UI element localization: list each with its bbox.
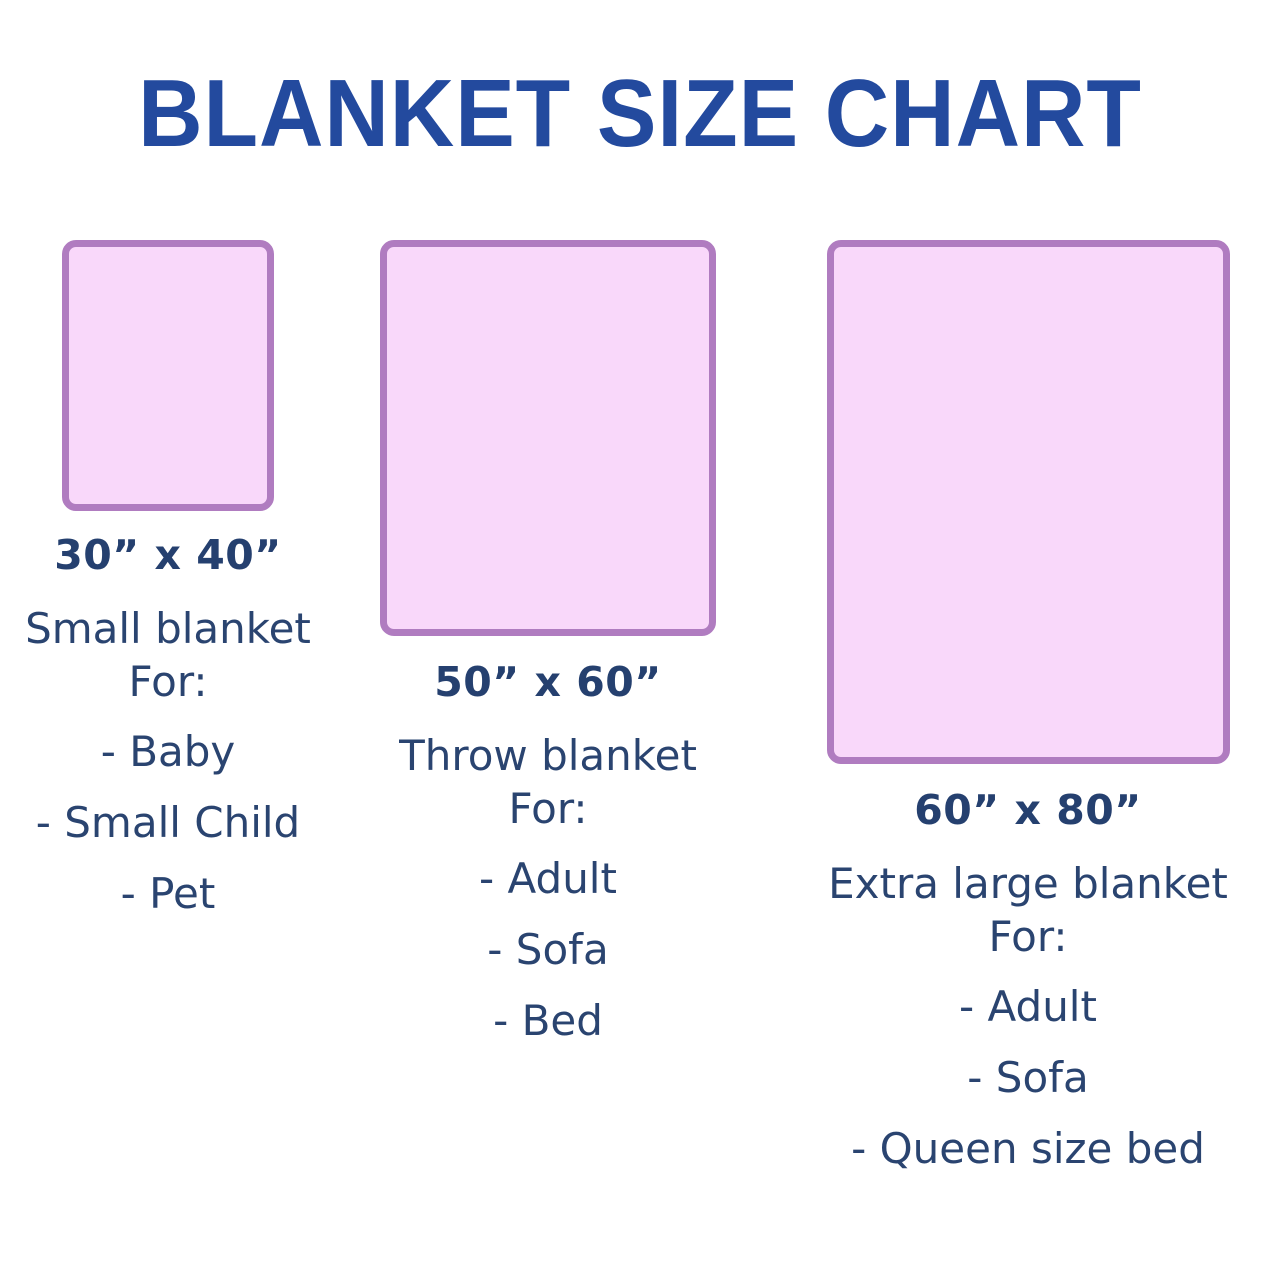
for-label-extra-large: For: <box>776 913 1280 962</box>
swatch-wrapper-throw <box>342 240 754 636</box>
size-column-extra-large: 60” x 80” Extra large blanket For: - Adu… <box>776 240 1280 1174</box>
blanket-size-chart: BLANKET SIZE CHART 30” x 40” Small blank… <box>0 0 1280 1280</box>
list-item: - Baby <box>0 728 336 777</box>
blanket-name-extra-large: Extra large blanket <box>776 860 1280 909</box>
list-item: - Small Child <box>0 799 336 848</box>
for-label-small: For: <box>0 658 336 707</box>
dimension-label-small: 30” x 40” <box>0 533 336 579</box>
swatch-wrapper-extra-large <box>776 240 1280 764</box>
size-column-small: 30” x 40” Small blanket For: - Baby - Sm… <box>0 240 336 919</box>
blanket-name-small: Small blanket <box>0 605 336 654</box>
blanket-swatch-extra-large <box>827 240 1230 764</box>
label-block-small: 30” x 40” Small blanket For: - Baby - Sm… <box>0 533 336 919</box>
use-list-throw: - Adult - Sofa - Bed <box>342 855 754 1045</box>
list-item: - Bed <box>342 997 754 1046</box>
dimension-label-throw: 50” x 60” <box>342 660 754 706</box>
for-label-throw: For: <box>342 785 754 834</box>
list-item: - Sofa <box>342 926 754 975</box>
page-title: BLANKET SIZE CHART <box>45 66 1235 162</box>
use-list-extra-large: - Adult - Sofa - Queen size bed <box>776 983 1280 1173</box>
label-block-throw: 50” x 60” Throw blanket For: - Adult - S… <box>342 660 754 1046</box>
dimension-label-extra-large: 60” x 80” <box>776 788 1280 834</box>
blanket-swatch-throw <box>380 240 716 636</box>
list-item: - Adult <box>776 983 1280 1032</box>
blanket-name-throw: Throw blanket <box>342 732 754 781</box>
size-column-throw: 50” x 60” Throw blanket For: - Adult - S… <box>342 240 754 1046</box>
list-item: - Adult <box>342 855 754 904</box>
label-block-extra-large: 60” x 80” Extra large blanket For: - Adu… <box>776 788 1280 1174</box>
blanket-swatch-small <box>62 240 274 511</box>
list-item: - Sofa <box>776 1054 1280 1103</box>
use-list-small: - Baby - Small Child - Pet <box>0 728 336 918</box>
swatch-wrapper-small <box>0 240 336 511</box>
list-item: - Queen size bed <box>776 1125 1280 1174</box>
list-item: - Pet <box>0 870 336 919</box>
